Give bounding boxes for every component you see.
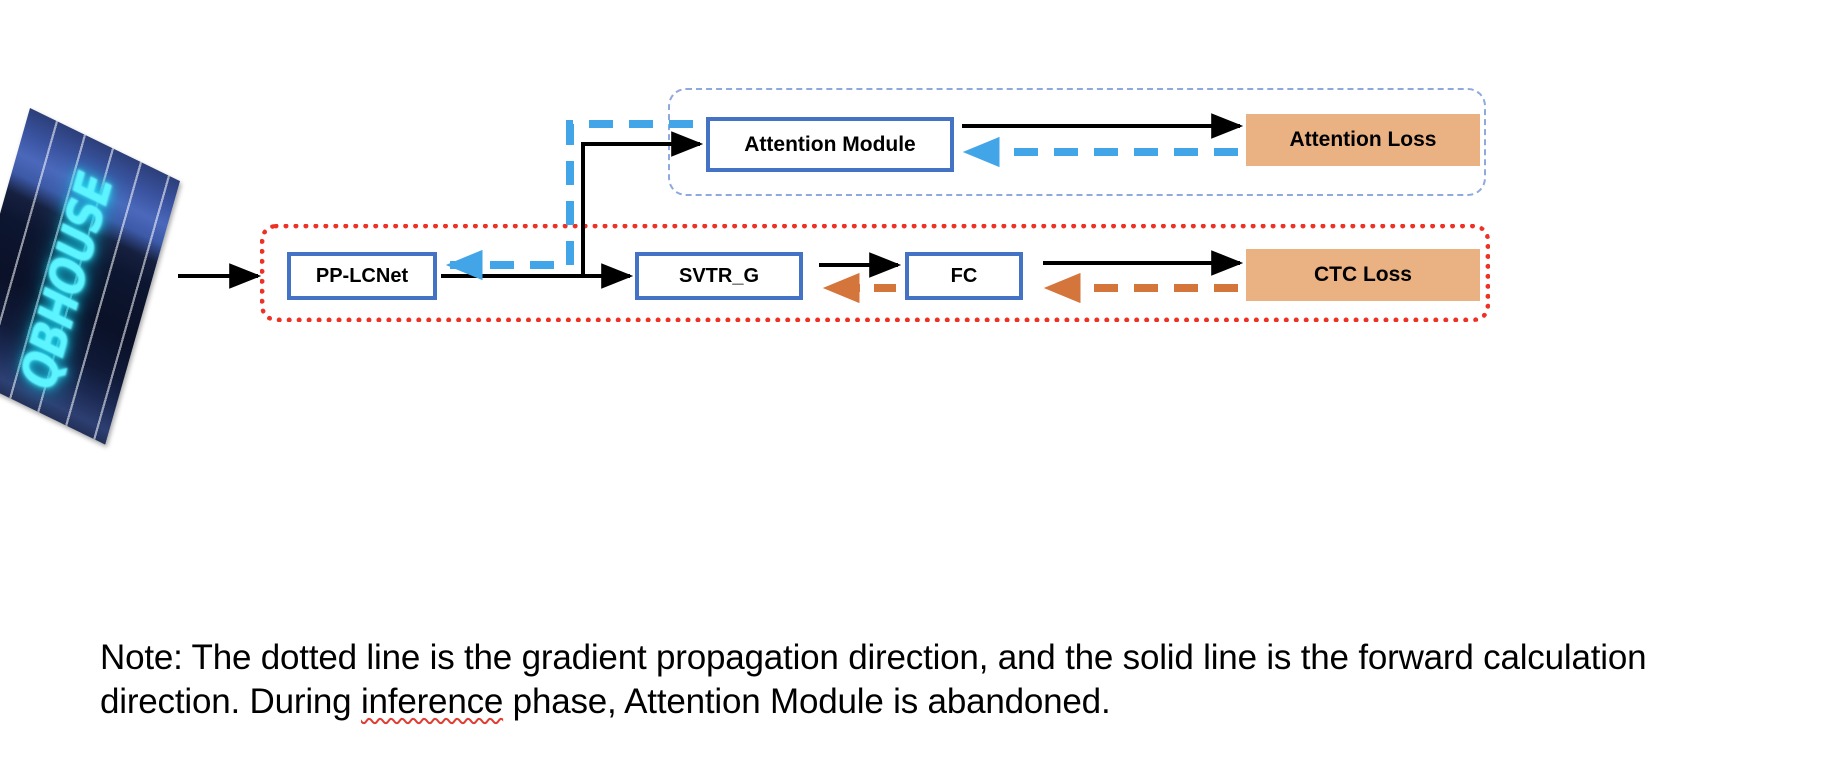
note-misspelled-word: inference xyxy=(361,682,503,721)
fc-box[interactable]: FC xyxy=(905,252,1023,300)
svtr-g-label: SVTR_G xyxy=(679,265,759,288)
attention-loss-label: Attention Loss xyxy=(1290,128,1437,152)
diagram-canvas: QBHOUSE xyxy=(0,0,1848,768)
pp-lcnet-label: PP-LCNet xyxy=(316,265,408,288)
ctc-loss-label: CTC Loss xyxy=(1314,263,1412,287)
attention-module-label: Attention Module xyxy=(744,133,915,157)
attention-module-box[interactable]: Attention Module xyxy=(706,117,954,172)
pp-lcnet-box[interactable]: PP-LCNet xyxy=(287,252,437,300)
input-text-image: QBHOUSE xyxy=(0,108,180,445)
fc-label: FC xyxy=(951,265,978,288)
note-text: Note: The dotted line is the gradient pr… xyxy=(100,636,1780,725)
ctc-loss-box[interactable]: CTC Loss xyxy=(1246,249,1480,301)
svtr-g-box[interactable]: SVTR_G xyxy=(635,252,803,300)
note-suffix: phase, Attention Module is abandoned. xyxy=(503,682,1110,721)
attention-loss-box[interactable]: Attention Loss xyxy=(1246,114,1480,166)
